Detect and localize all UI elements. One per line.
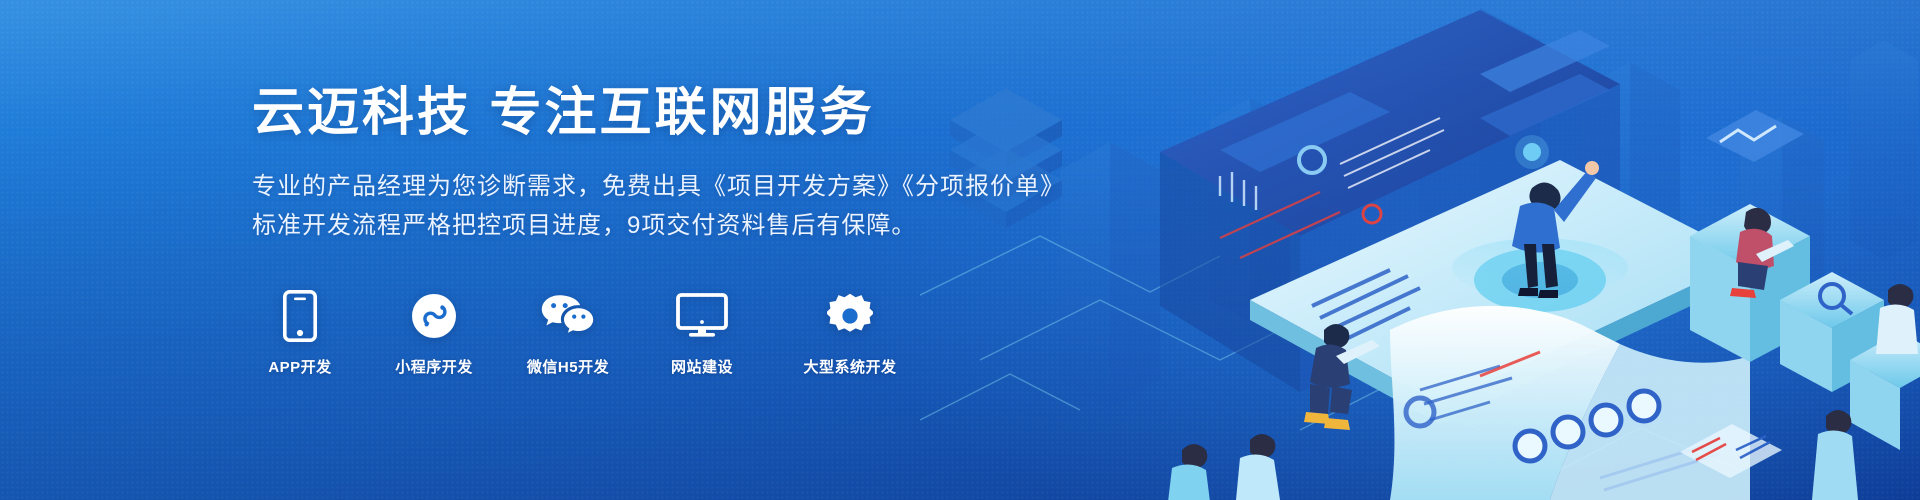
service-item-app[interactable]: APP开发 [252, 290, 348, 377]
subtitle-line-2: 标准开发流程严格把控项目进度，9项交付资料售后有保障。 [252, 207, 1132, 246]
service-label: APP开发 [268, 356, 331, 377]
service-item-mini-program[interactable]: 小程序开发 [386, 290, 482, 377]
report-sheet [1390, 306, 1750, 500]
gear-icon [827, 290, 873, 342]
service-label: 微信H5开发 [527, 356, 609, 377]
person-right-bottom [1812, 410, 1858, 500]
service-label: 网站建设 [671, 356, 733, 377]
person-pair-front [1168, 434, 1280, 500]
service-label: 小程序开发 [395, 356, 473, 377]
subtitle-line-1: 专业的产品经理为您诊断需求，免费出具《项目开发方案》《分项报价单》 [252, 168, 1132, 207]
wechat-icon [540, 290, 596, 342]
service-item-large-system[interactable]: 大型系统开发 [788, 290, 912, 377]
page-title: 云迈科技 专注互联网服务 [252, 84, 1132, 142]
mini-program-icon [411, 290, 457, 342]
hero-banner: 云迈科技 专注互联网服务 专业的产品经理为您诊断需求，免费出具《项目开发方案》《… [0, 0, 1920, 500]
mobile-phone-icon [283, 290, 317, 342]
service-item-website[interactable]: 网站建设 [654, 290, 750, 377]
hero-copy: 云迈科技 专注互联网服务 专业的产品经理为您诊断需求，免费出具《项目开发方案》《… [252, 84, 1132, 377]
hero-subtitle: 专业的产品经理为您诊断需求，免费出具《项目开发方案》《分项报价单》 标准开发流程… [252, 168, 1132, 246]
person-right-mid [1876, 284, 1918, 354]
service-label: 大型系统开发 [803, 356, 896, 377]
service-list: APP开发 小程序开发 [252, 290, 1132, 377]
monitor-icon [676, 290, 728, 342]
service-item-wechat[interactable]: 微信H5开发 [520, 290, 616, 377]
